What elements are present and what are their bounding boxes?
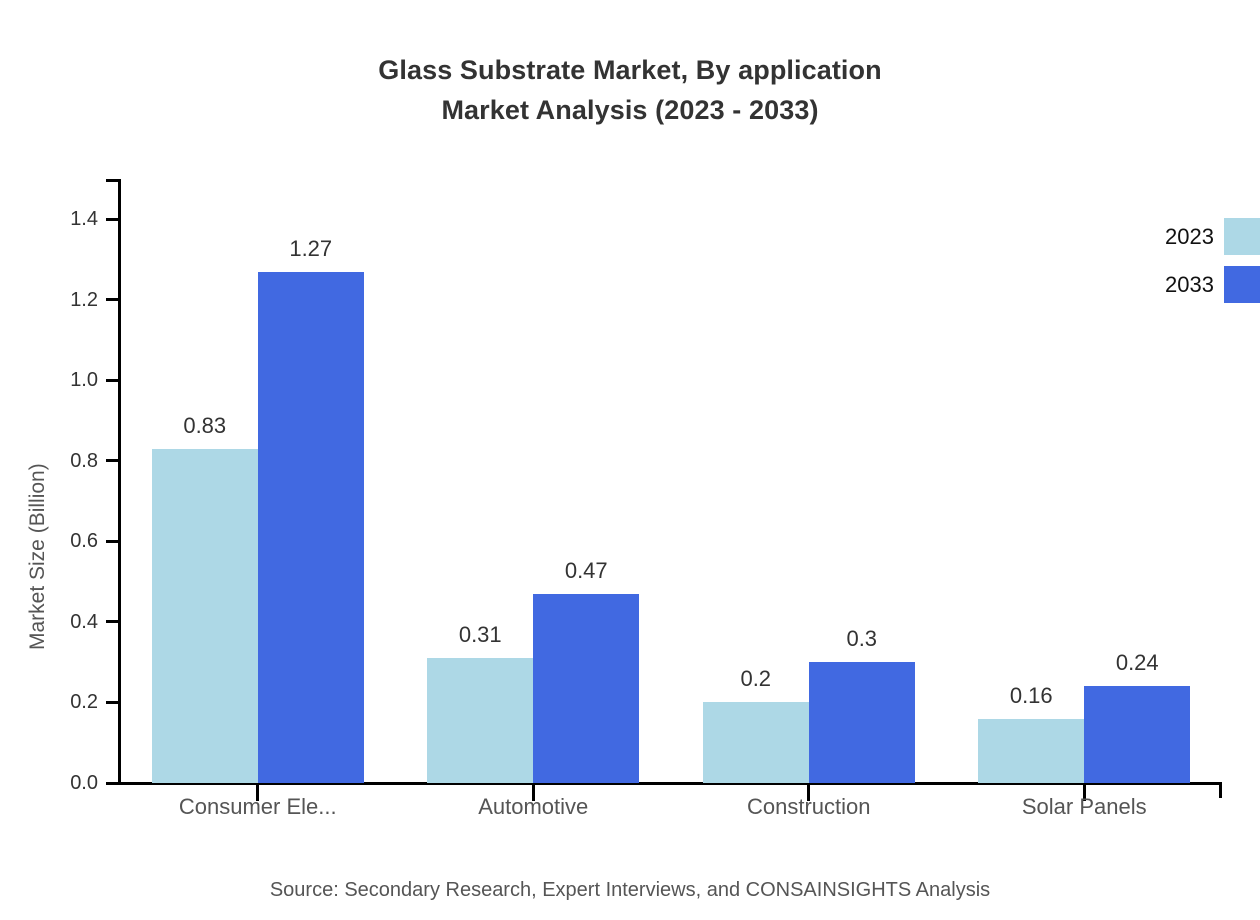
y-tick-label-0.8: 0.8 [8,451,98,471]
x-axis-label-0: Consumer Ele... [179,794,337,820]
bar-value-label-2033-2: 0.3 [846,626,877,652]
chart-source-note: Source: Secondary Research, Expert Inter… [0,879,1260,902]
y-tick-0.2 [106,701,121,704]
bar-2033-2[interactable] [809,662,915,783]
y-axis-top-cap [106,179,121,182]
y-tick-0.0 [106,782,121,785]
chart-canvas: Glass Substrate Market, By application M… [0,0,1260,920]
x-axis-label-3: Solar Panels [1022,794,1147,820]
x-axis-label-1: Automotive [478,794,588,820]
bar-2023-2[interactable] [703,702,809,783]
y-tick-label-0.0: 0.0 [8,773,98,793]
y-tick-0.4 [106,620,121,623]
legend-label-2023: 2023 [1130,226,1214,248]
y-tick-label-0.2: 0.2 [8,692,98,712]
chart-title-block: Glass Substrate Market, By application M… [0,50,1260,130]
y-tick-label-0.6: 0.6 [8,531,98,551]
y-tick-1.4 [106,218,121,221]
bar-value-label-2033-0: 1.27 [289,236,332,262]
x-axis-end-cap [1219,782,1222,798]
bar-2033-3[interactable] [1084,686,1190,783]
chart-title-line-2: Market Analysis (2023 - 2033) [0,90,1260,130]
y-tick-label-1.2: 1.2 [8,290,98,310]
y-tick-1.2 [106,298,121,301]
chart-title-line-1: Glass Substrate Market, By application [0,50,1260,90]
legend-item-2023[interactable]: 2023 [1130,218,1260,266]
bar-2033-1[interactable] [533,594,639,783]
legend-swatch-2023 [1224,218,1260,255]
plot-area: 0.831.270.310.470.20.30.160.24 [120,179,1222,783]
bar-value-label-2023-1: 0.31 [459,622,502,648]
bar-value-label-2023-3: 0.16 [1010,683,1053,709]
y-tick-label-1.4: 1.4 [8,209,98,229]
y-tick-0.8 [106,459,121,462]
y-tick-label-0.4: 0.4 [8,612,98,632]
bar-2023-1[interactable] [427,658,533,783]
bar-2023-0[interactable] [152,449,258,783]
legend-item-2033[interactable]: 2033 [1130,266,1260,314]
y-tick-0.6 [106,540,121,543]
bar-2033-0[interactable] [258,272,364,783]
bar-value-label-2023-0: 0.83 [183,413,226,439]
y-tick-label-1.0: 1.0 [8,370,98,390]
bar-value-label-2033-3: 0.24 [1116,650,1159,676]
bar-value-label-2023-2: 0.2 [740,666,771,692]
y-tick-1.0 [106,379,121,382]
legend-swatch-2033 [1224,266,1260,303]
chart-legend: 2023 2033 [1130,218,1260,314]
legend-label-2033: 2033 [1130,274,1214,296]
bar-2023-3[interactable] [978,719,1084,783]
bar-value-label-2033-1: 0.47 [565,558,608,584]
x-axis-label-2: Construction [747,794,871,820]
